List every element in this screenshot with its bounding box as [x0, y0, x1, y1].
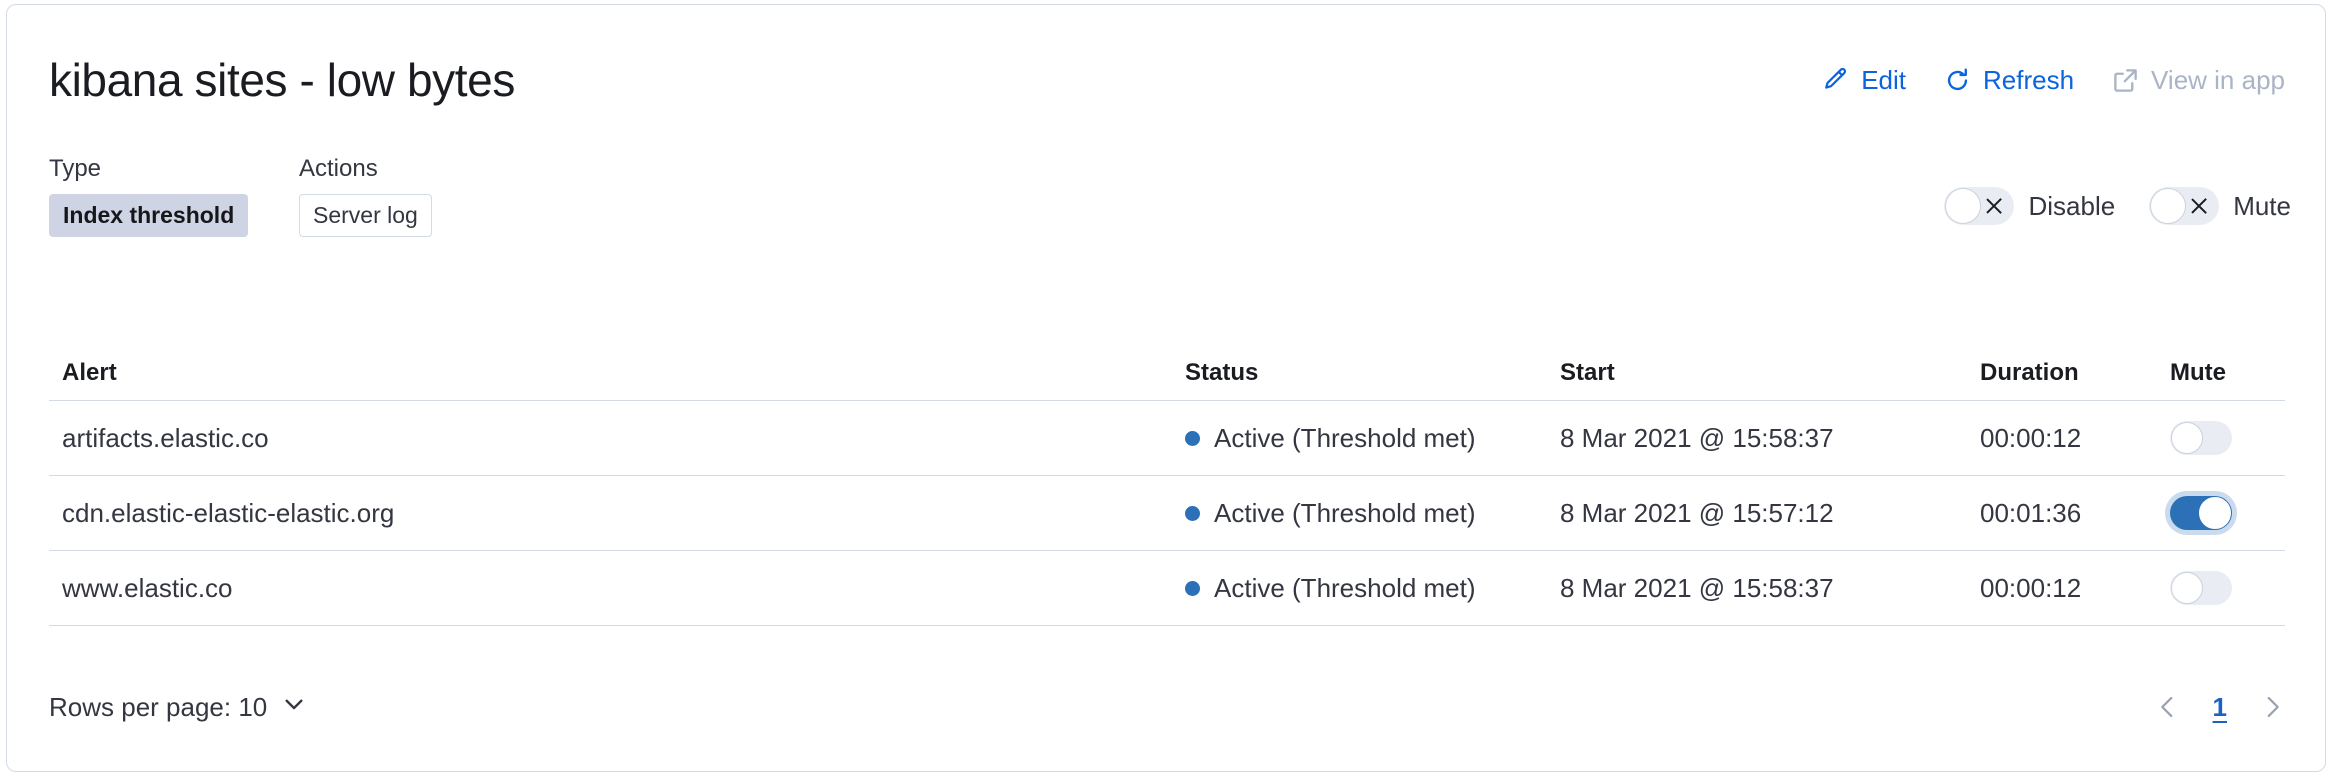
next-page-icon[interactable] — [2255, 692, 2289, 722]
table-row: cdn.elastic-elastic-elastic.org Active (… — [49, 476, 2285, 551]
cell-duration: 00:01:36 — [1980, 498, 2170, 529]
disable-switch-wrap: Disable — [1944, 187, 2115, 225]
disable-switch-label: Disable — [2028, 191, 2115, 222]
previous-page-icon[interactable] — [2151, 692, 2185, 722]
status-dot-icon — [1185, 431, 1200, 446]
column-header-duration: Duration — [1980, 359, 2170, 387]
chevron-down-icon — [281, 691, 307, 724]
alert-details-panel: kibana sites - low bytes Edit — [6, 4, 2326, 772]
pencil-icon — [1822, 67, 1849, 94]
rows-per-page-label: Rows per page: 10 — [49, 692, 267, 723]
page-title: kibana sites - low bytes — [49, 53, 515, 107]
status-text: Active (Threshold met) — [1214, 573, 1476, 604]
column-header-mute: Mute — [2170, 359, 2285, 387]
view-in-app-label: View in app — [2151, 65, 2285, 96]
rows-per-page-selector[interactable]: Rows per page: 10 — [49, 691, 307, 724]
row-mute-switch-knob — [2199, 497, 2231, 529]
mute-switch[interactable] — [2149, 187, 2219, 225]
cell-start: 8 Mar 2021 @ 15:58:37 — [1560, 573, 1980, 604]
cell-start: 8 Mar 2021 @ 15:57:12 — [1560, 498, 1980, 529]
actions-label: Actions — [299, 155, 432, 183]
pagination: 1 — [2151, 692, 2289, 723]
row-mute-switch[interactable] — [2170, 421, 2232, 455]
mute-switch-knob — [2150, 188, 2186, 224]
type-label: Type — [49, 155, 248, 183]
type-group: Type Index threshold — [49, 155, 248, 237]
row-mute-switch-knob — [2171, 422, 2203, 454]
cell-duration: 00:00:12 — [1980, 573, 2170, 604]
refresh-icon — [1944, 67, 1971, 94]
cell-status: Active (Threshold met) — [1185, 498, 1560, 529]
external-link-icon — [2112, 67, 2139, 94]
refresh-button-label: Refresh — [1983, 65, 2074, 96]
edit-button-label: Edit — [1861, 65, 1906, 96]
header-action-bar: Edit Refresh — [1818, 63, 2289, 98]
cell-mute — [2170, 421, 2285, 455]
status-dot-icon — [1185, 506, 1200, 521]
row-mute-switch-knob — [2171, 572, 2203, 604]
page-number-1[interactable]: 1 — [2213, 692, 2227, 723]
cell-start: 8 Mar 2021 @ 15:58:37 — [1560, 423, 1980, 454]
mute-switch-label: Mute — [2233, 191, 2291, 222]
actions-group: Actions Server log — [299, 155, 432, 237]
status-dot-icon — [1185, 581, 1200, 596]
meta-row: Type Index threshold Actions Server log … — [7, 155, 2325, 265]
cell-mute — [2170, 571, 2285, 605]
row-mute-switch[interactable] — [2170, 571, 2232, 605]
status-text: Active (Threshold met) — [1214, 498, 1476, 529]
cell-duration: 00:00:12 — [1980, 423, 2170, 454]
table-row: artifacts.elastic.co Active (Threshold m… — [49, 401, 2285, 476]
disable-switch[interactable] — [1944, 187, 2014, 225]
alerts-table: Alert Status Start Duration Mute artifac… — [49, 345, 2285, 626]
disable-switch-knob — [1945, 188, 1981, 224]
cell-alert: cdn.elastic-elastic-elastic.org — [49, 498, 1185, 529]
column-header-alert: Alert — [49, 359, 1185, 387]
type-badge: Index threshold — [49, 194, 248, 237]
column-header-start: Start — [1560, 359, 1980, 387]
action-badge-server-log: Server log — [299, 194, 432, 237]
cross-icon — [2189, 196, 2209, 216]
cell-status: Active (Threshold met) — [1185, 573, 1560, 604]
column-header-status: Status — [1185, 359, 1560, 387]
table-header-row: Alert Status Start Duration Mute — [49, 345, 2285, 401]
cross-icon — [1984, 196, 2004, 216]
table-footer: Rows per page: 10 1 — [49, 677, 2289, 737]
cell-mute — [2170, 496, 2285, 530]
refresh-button[interactable]: Refresh — [1940, 63, 2078, 98]
status-text: Active (Threshold met) — [1214, 423, 1476, 454]
cell-status: Active (Threshold met) — [1185, 423, 1560, 454]
toggle-group: Disable Mute — [1944, 187, 2291, 225]
table-row: www.elastic.co Active (Threshold met) 8 … — [49, 551, 2285, 626]
cell-alert: www.elastic.co — [49, 573, 1185, 604]
view-in-app-button[interactable]: View in app — [2108, 63, 2289, 98]
cell-alert: artifacts.elastic.co — [49, 423, 1185, 454]
page-header: kibana sites - low bytes Edit — [7, 5, 2325, 155]
edit-button[interactable]: Edit — [1818, 63, 1910, 98]
mute-switch-wrap: Mute — [2149, 187, 2291, 225]
row-mute-switch[interactable] — [2170, 496, 2232, 530]
